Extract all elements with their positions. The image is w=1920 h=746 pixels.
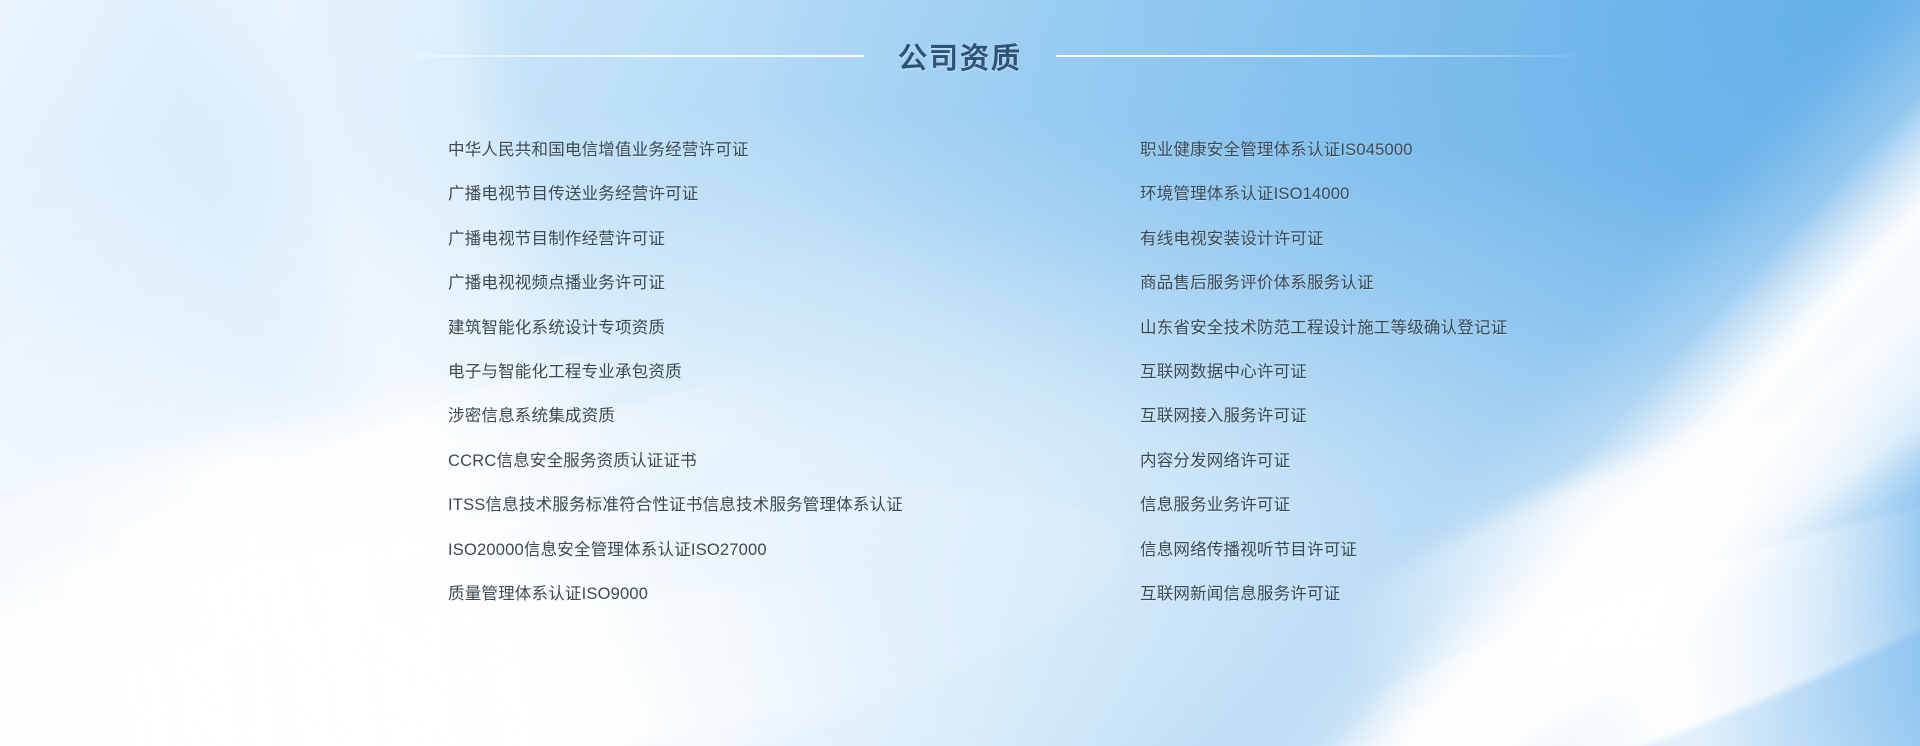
list-item: 广播电视节目制作经营许可证 <box>448 217 968 261</box>
list-item: 内容分发网络许可证 <box>1140 439 1660 483</box>
qualification-columns: 中华人民共和国电信增值业务经营许可证 广播电视节目传送业务经营许可证 广播电视节… <box>0 128 1920 616</box>
list-item: ISO20000信息安全管理体系认证ISO27000 <box>448 528 968 572</box>
page-title: 公司资质 <box>864 35 1056 77</box>
list-item: 电子与智能化工程专业承包资质 <box>448 350 968 394</box>
list-item: CCRC信息安全服务资质认证证书 <box>448 439 968 483</box>
list-item: 广播电视视频点播业务许可证 <box>448 261 968 305</box>
list-item: 职业健康安全管理体系认证IS045000 <box>1140 128 1660 172</box>
list-item: 质量管理体系认证ISO9000 <box>448 572 968 616</box>
divider-left <box>329 55 864 57</box>
list-item: 中华人民共和国电信增值业务经营许可证 <box>448 128 968 172</box>
list-item: 商品售后服务评价体系服务认证 <box>1140 261 1660 305</box>
list-item: 建筑智能化系统设计专项资质 <box>448 306 968 350</box>
list-item: ITSS信息技术服务标准符合性证书信息技术服务管理体系认证 <box>448 483 968 527</box>
qualification-column-left: 中华人民共和国电信增值业务经营许可证 广播电视节目传送业务经营许可证 广播电视节… <box>448 128 968 616</box>
section-header: 公司资质 <box>0 0 1920 112</box>
list-item: 有线电视安装设计许可证 <box>1140 217 1660 261</box>
list-item: 互联网数据中心许可证 <box>1140 350 1660 394</box>
list-item: 信息网络传播视听节目许可证 <box>1140 528 1660 572</box>
qualification-column-right: 职业健康安全管理体系认证IS045000 环境管理体系认证ISO14000 有线… <box>1140 128 1660 616</box>
list-item: 环境管理体系认证ISO14000 <box>1140 172 1660 216</box>
list-item: 互联网新闻信息服务许可证 <box>1140 572 1660 616</box>
list-item: 山东省安全技术防范工程设计施工等级确认登记证 <box>1140 306 1660 350</box>
divider-right <box>1056 55 1591 57</box>
list-item: 广播电视节目传送业务经营许可证 <box>448 172 968 216</box>
list-item: 涉密信息系统集成资质 <box>448 394 968 438</box>
qualifications-section: 公司资质 中华人民共和国电信增值业务经营许可证 广播电视节目传送业务经营许可证 … <box>0 0 1920 746</box>
list-item: 信息服务业务许可证 <box>1140 483 1660 527</box>
list-item: 互联网接入服务许可证 <box>1140 394 1660 438</box>
